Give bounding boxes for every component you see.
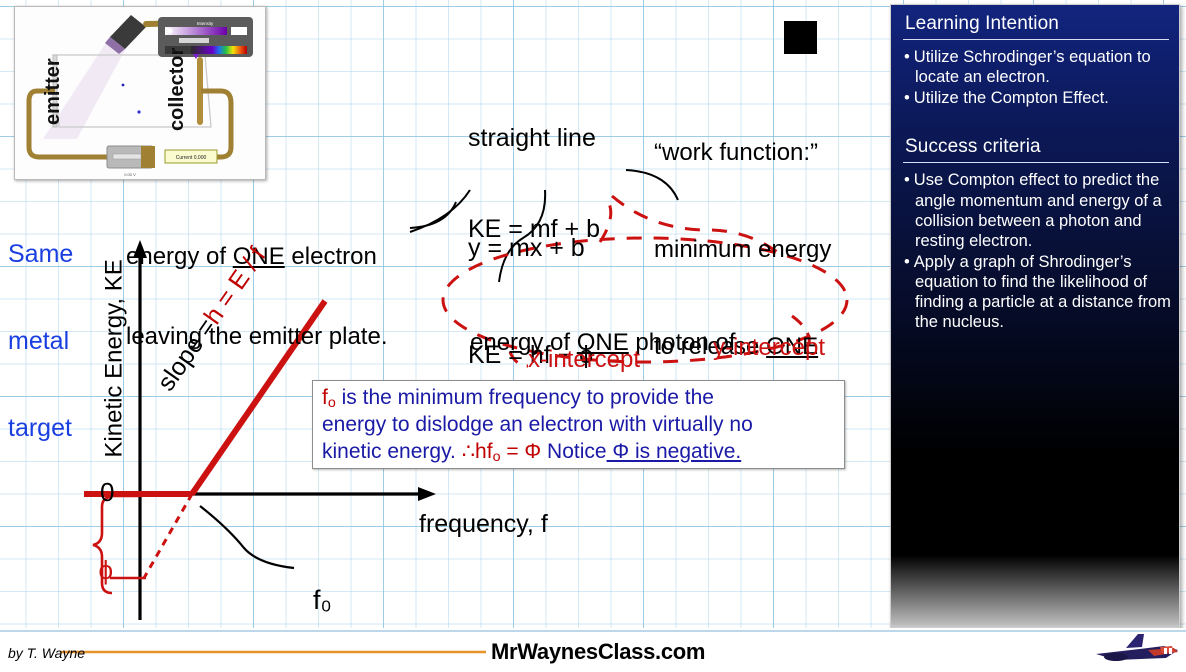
jet-logo-icon	[1086, 630, 1182, 666]
objectives-panel: Learning Intention Utilize Schrodinger’s…	[890, 4, 1180, 631]
svg-text:0.00 V: 0.00 V	[124, 172, 136, 177]
svg-text:collector: collector	[166, 47, 188, 131]
f0-label: f₀	[298, 555, 332, 615]
same-metal-target-label: Same metal target	[8, 182, 73, 472]
learning-intention-divider	[903, 39, 1169, 40]
same-metal-line2: metal	[8, 327, 73, 356]
origin-label: 0	[100, 478, 114, 507]
site-link[interactable]: MrWaynesClass.com	[491, 639, 705, 665]
fbox-line2: energy to dislodge an electron with virt…	[322, 412, 844, 439]
list-item: Use Compton effect to predict the angle …	[904, 170, 1171, 251]
learning-intention-heading: Learning Intention	[905, 13, 1179, 35]
hf0-equals-phi: ∴hfo = Φ	[462, 440, 542, 463]
fbox-line1: fo is the minimum frequency to provide t…	[322, 385, 844, 412]
success-criteria-divider	[903, 162, 1169, 163]
f0-inline: fo	[322, 386, 336, 409]
y-axis-label: Kinetic Energy, KE	[102, 238, 129, 478]
list-item: Utilize the Compton Effect.	[904, 88, 1171, 108]
f0-explanation-box: fo is the minimum frequency to provide t…	[312, 380, 845, 469]
success-criteria-list: Use Compton effect to predict the angle …	[891, 170, 1179, 332]
svg-text:Intensity: Intensity	[197, 21, 214, 26]
same-metal-line3: target	[8, 414, 73, 443]
phi-symbol: ϕ	[98, 555, 113, 585]
success-criteria-heading: Success criteria	[905, 136, 1179, 158]
electron-energy-annotation: energy of ONE electron leaving the emitt…	[126, 190, 387, 378]
list-item: Utilize Schrodinger’s equation to locate…	[904, 47, 1171, 87]
x-intercept-label: x-intercept	[528, 347, 640, 374]
list-item: Apply a graph of Shrodinger’s equation t…	[904, 252, 1171, 333]
work-function-title: “work function:”	[654, 137, 831, 169]
author-byline: by T. Wayne	[8, 645, 85, 661]
f0-symbol: f₀	[313, 585, 332, 615]
ke-equation-generic: KE = mf + b	[468, 208, 600, 250]
black-square-placeholder	[784, 21, 817, 54]
svg-text:emitter: emitter	[42, 58, 64, 125]
x-axis-label: frequency, f	[419, 510, 548, 538]
y-intercept-label: y-intercept	[713, 335, 825, 362]
electron-energy-line2: leaving the emitter plate.	[126, 324, 387, 351]
phi-negative-note: Φ is negative.	[607, 440, 742, 463]
photoelectric-simulation-image: Intensity	[14, 6, 266, 180]
work-function-line2: minimum energy	[654, 234, 831, 266]
phi-label: ϕ	[84, 527, 113, 585]
svg-text:Current 0.000: Current 0.000	[176, 155, 207, 161]
same-metal-line1: Same	[8, 240, 73, 269]
fbox-line3: kinetic energy. ∴hfo = Φ Notice Φ is neg…	[322, 439, 844, 466]
learning-intention-list: Utilize Schrodinger’s equation to locate…	[891, 47, 1179, 108]
